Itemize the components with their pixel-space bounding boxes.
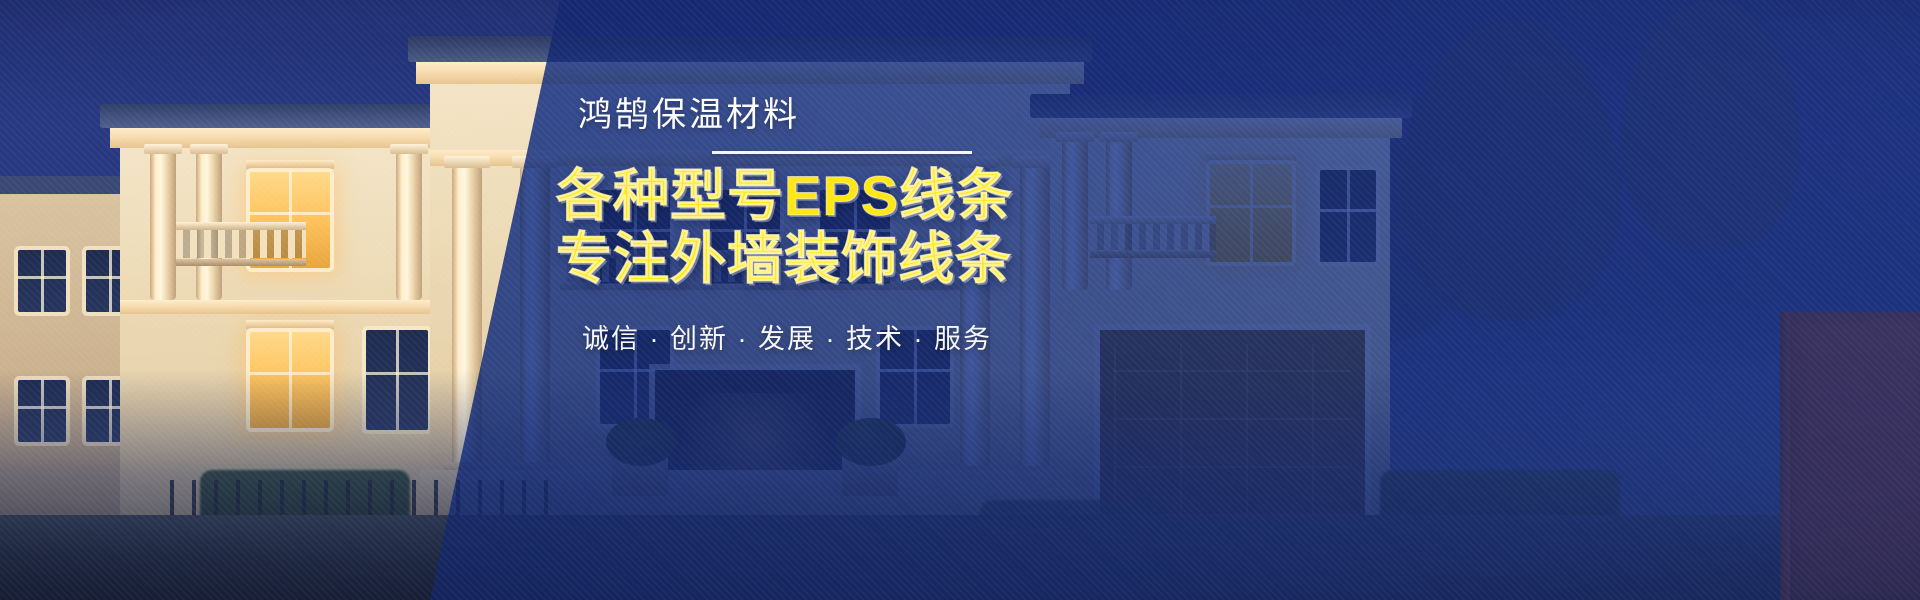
column-capital: [144, 144, 182, 154]
headline: 各种型号EPS线条 专注外墙装饰线条: [556, 164, 996, 291]
column-capital: [390, 144, 428, 154]
window-header: [246, 320, 334, 329]
column: [150, 150, 176, 300]
banner-copy: 鸿鹄保温材料 各种型号EPS线条 专注外墙装饰线条 诚信 · 创新 · 发展 ·…: [556, 96, 996, 356]
column: [396, 150, 422, 300]
balustrade: [176, 222, 306, 266]
column-capital: [444, 156, 490, 168]
left-wing-band: [120, 300, 450, 314]
left-wing-roof: [100, 104, 472, 128]
column-capital: [190, 144, 228, 154]
window-header: [246, 160, 334, 169]
window: [18, 250, 66, 312]
headline-line-1: 各种型号EPS线条: [556, 164, 1013, 227]
promo-banner: 鸿鹄保温材料 各种型号EPS线条 专注外墙装饰线条 诚信 · 创新 · 发展 ·…: [0, 0, 1920, 600]
headline-line-2: 专注外墙装饰线条: [556, 227, 996, 290]
tagline: 诚信 · 创新 · 发展 · 技术 · 服务: [556, 317, 996, 356]
brand-name: 鸿鹄保温材料: [556, 96, 996, 135]
divider-rule: [712, 151, 972, 154]
